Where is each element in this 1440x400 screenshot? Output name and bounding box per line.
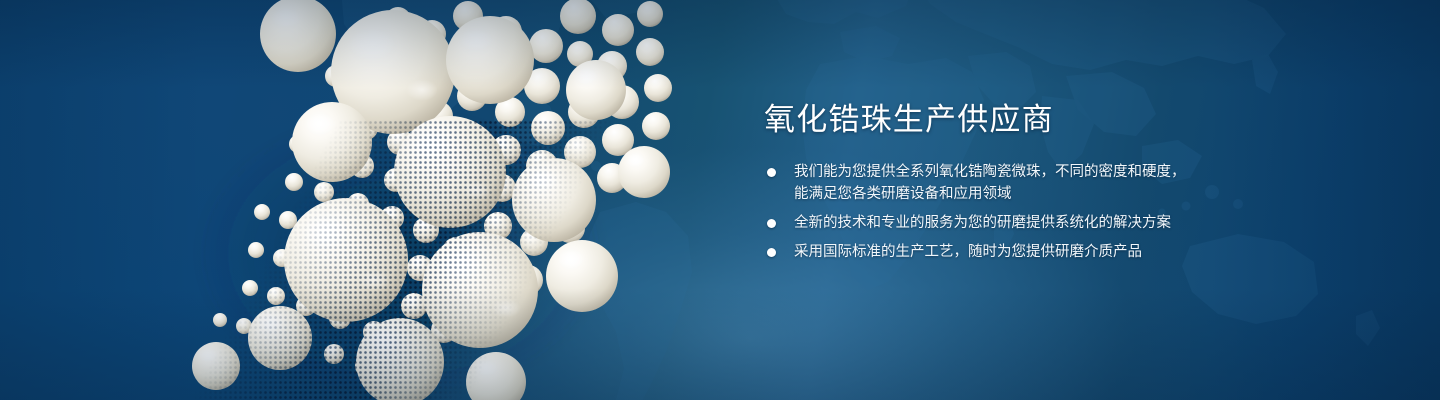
bullet-item-3: 采用国际标准的生产工艺，随时为您提供研磨介质产品 [764, 241, 1234, 263]
bullet-dot-icon [767, 219, 776, 228]
banner-bullet-list: 我们能为您提供全系列氧化锆陶瓷微珠，不同的密度和硬度， 能满足您各类研磨设备和应… [764, 161, 1234, 263]
banner-copy: 氧化锆珠生产供应商 我们能为您提供全系列氧化锆陶瓷微珠，不同的密度和硬度， 能满… [764, 104, 1234, 263]
bullet-dot-icon [767, 248, 776, 257]
bullet-item-2: 全新的技术和专业的服务为您的研磨提供系统化的解决方案 [764, 212, 1234, 234]
banner-headline: 氧化锆珠生产供应商 [764, 104, 1234, 135]
bullet-item-1-line-1: 我们能为您提供全系列氧化锆陶瓷微珠，不同的密度和硬度， [794, 161, 1234, 183]
bullet-dot-icon [767, 168, 776, 177]
bullet-item-1: 我们能为您提供全系列氧化锆陶瓷微珠，不同的密度和硬度， 能满足您各类研磨设备和应… [764, 161, 1234, 205]
hero-banner: 氧化锆珠生产供应商 我们能为您提供全系列氧化锆陶瓷微珠，不同的密度和硬度， 能满… [0, 0, 1440, 400]
bullet-item-2-line-1: 全新的技术和专业的服务为您的研磨提供系统化的解决方案 [794, 212, 1234, 234]
bullet-item-3-line-1: 采用国际标准的生产工艺，随时为您提供研磨介质产品 [794, 241, 1234, 263]
bullet-item-1-line-2: 能满足您各类研磨设备和应用领域 [794, 183, 1234, 205]
